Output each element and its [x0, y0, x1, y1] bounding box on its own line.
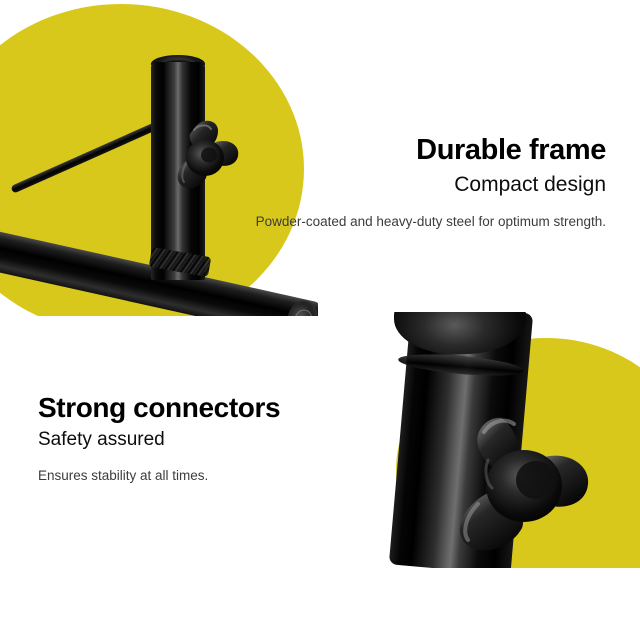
- feature-subhead: Safety assured: [38, 428, 280, 452]
- feature-headline: Durable frame: [256, 134, 606, 166]
- product-feature-infographic: Durable frame Compact design Powder-coat…: [0, 0, 640, 640]
- tri-lobe-knob-icon: [444, 408, 594, 560]
- feature-subhead: Compact design: [256, 172, 606, 198]
- feature-headline: Strong connectors: [38, 392, 280, 423]
- feature-body: Ensures stability at all times.: [38, 466, 280, 487]
- connector-closeup-photo-panel: [348, 312, 640, 568]
- tri-lobe-knob-icon: [166, 118, 242, 196]
- feature-text-durable-frame: Durable frame Compact design Powder-coat…: [256, 134, 606, 232]
- feature-body: Powder-coated and heavy-duty steel for o…: [256, 212, 606, 233]
- tube-end-cap: [284, 297, 318, 316]
- feature-text-strong-connectors: Strong connectors Safety assured Ensures…: [38, 392, 280, 487]
